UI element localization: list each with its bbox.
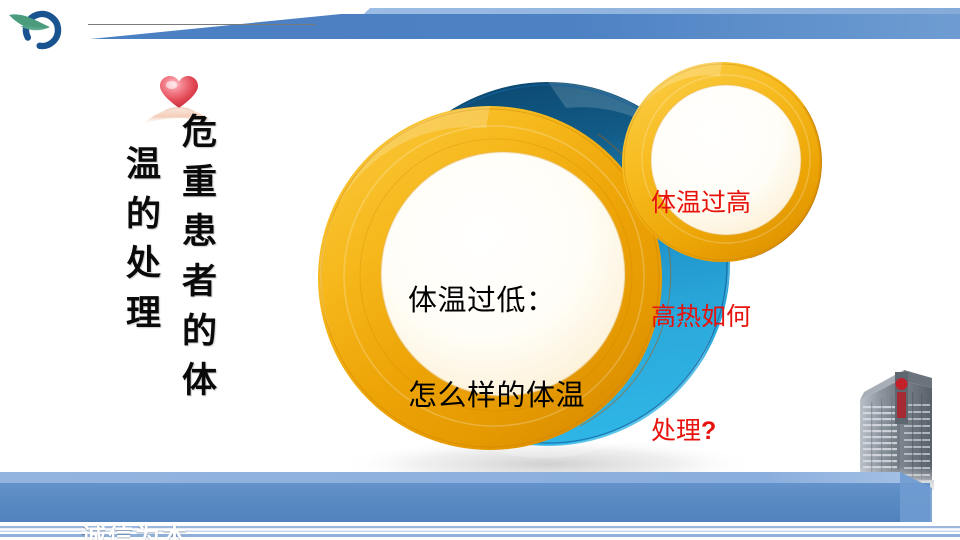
title-char: 的 (126, 190, 161, 240)
title-char: 患 (182, 207, 217, 257)
concentric-torus-graphic (280, 46, 860, 496)
title-char: 重 (182, 158, 217, 208)
title-column-right: 危 重 患 者 的 体 (182, 108, 217, 406)
title-char: 理 (126, 289, 161, 339)
title-char: 体 (182, 356, 217, 406)
footer-slogan-segment: 诚信为本 (81, 524, 189, 540)
hospital-logo (6, 2, 78, 54)
slide-canvas: 危 重 患 者 的 体 温 的 处 理 (0, 0, 960, 540)
header-band-light (0, 0, 960, 40)
title-char: 危 (182, 108, 217, 158)
footer-slogan: 诚信为本 德技双馨 追求完美 (48, 489, 223, 540)
title-char: 温 (126, 140, 161, 190)
title-char: 处 (126, 239, 161, 289)
small-orange-torus-ring (622, 62, 822, 262)
header-band-dark (0, 0, 960, 50)
header-divider-rule (88, 24, 316, 25)
title-char: 的 (182, 307, 217, 357)
title-column-left: 温 的 处 理 (126, 140, 161, 339)
title-char: 者 (182, 257, 217, 307)
